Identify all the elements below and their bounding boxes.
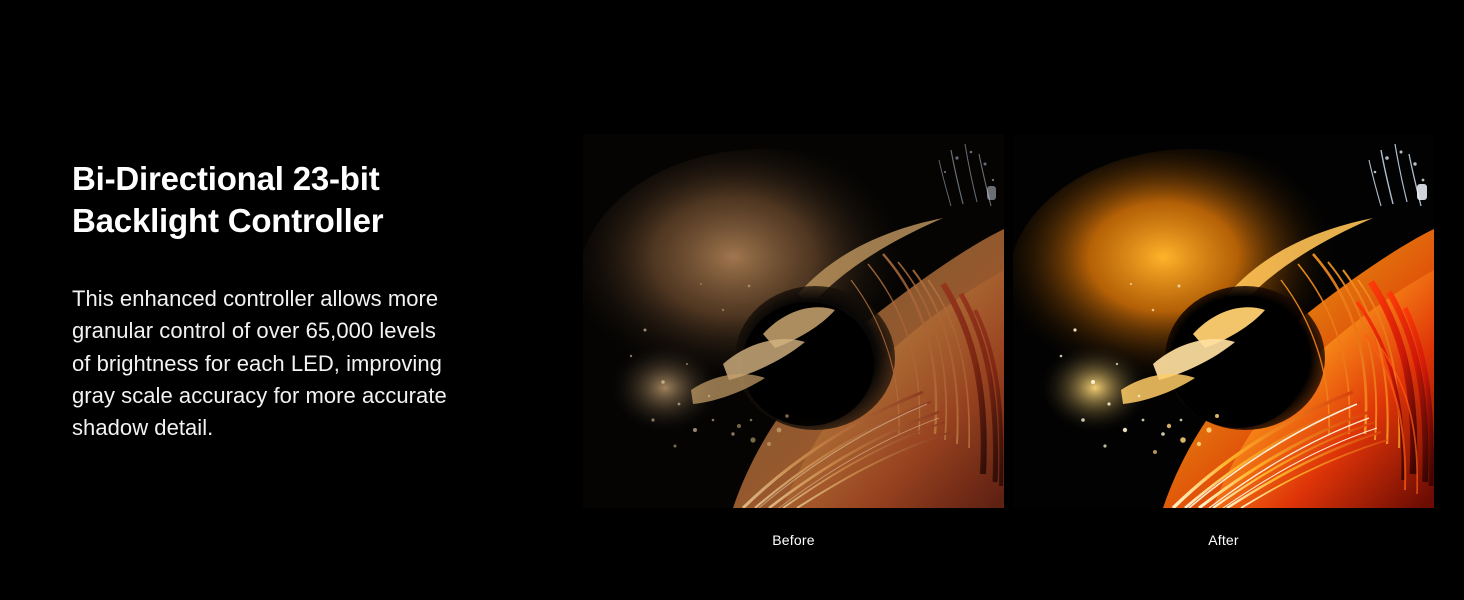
feature-section: Bi-Directional 23-bit Backlight Controll…: [0, 0, 1464, 600]
caption-before: Before: [583, 528, 1004, 552]
text-column: Bi-Directional 23-bit Backlight Controll…: [72, 158, 550, 445]
page-title: Bi-Directional 23-bit Backlight Controll…: [72, 158, 550, 241]
before-after-comparison: [583, 134, 1434, 508]
caption-after: After: [1013, 528, 1434, 552]
wave-image-after: [1013, 134, 1434, 508]
feature-description: This enhanced controller allows more gra…: [72, 241, 550, 445]
comparison-captions: Before After: [583, 528, 1434, 552]
wave-image-before: [583, 134, 1004, 508]
